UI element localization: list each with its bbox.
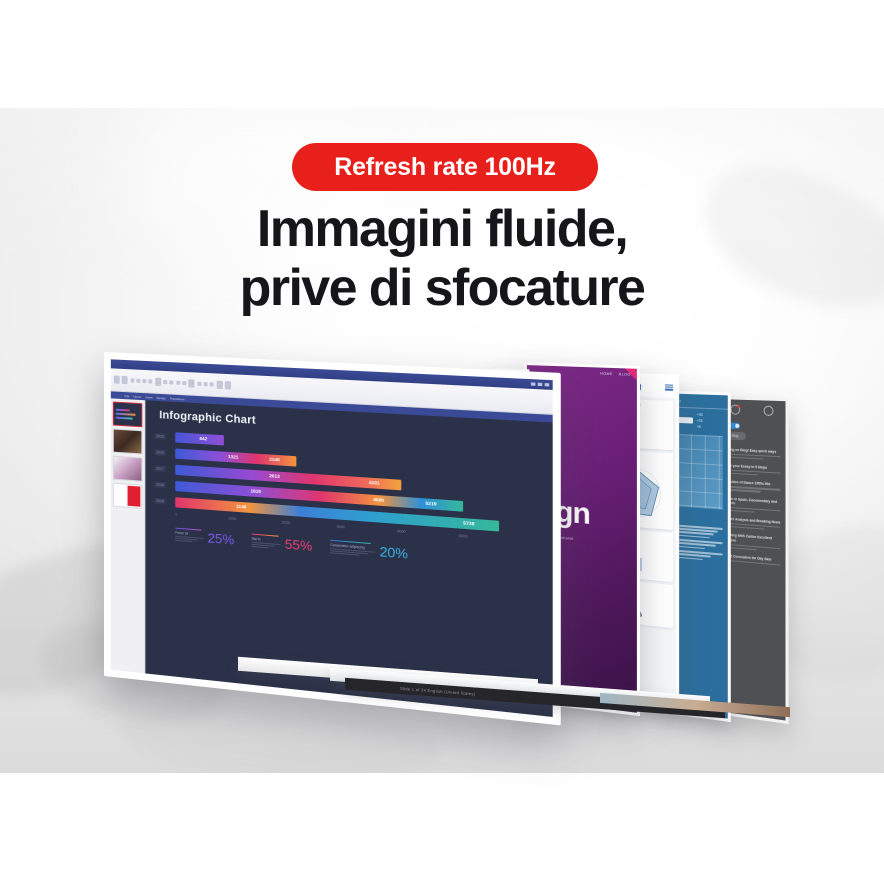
stat-percent: 55%	[285, 536, 312, 554]
bar-value: 2240	[269, 457, 280, 463]
bar-value: 1321	[228, 454, 238, 460]
axis-tick: 0	[175, 512, 177, 516]
bar-value: 1620	[251, 488, 262, 494]
device-stack: Blog Saving on Blog! Easy quick ways Wri…	[0, 0, 884, 884]
minimize-icon[interactable]	[531, 382, 536, 385]
axis-tick: 1000	[228, 516, 236, 521]
close-icon[interactable]	[545, 383, 550, 386]
chat-icon[interactable]	[730, 404, 740, 414]
category-label: 2019	[154, 497, 166, 504]
bar-value: 4201	[369, 480, 380, 486]
category-label: 2018	[154, 481, 166, 488]
headline-line-1: Immagini fluide,	[0, 200, 884, 259]
bar-value: 2613	[269, 473, 280, 479]
corner-accent	[623, 368, 637, 379]
tab-design[interactable]: Design	[157, 395, 166, 400]
bar-value: 5728	[463, 520, 474, 526]
metric-value: +8	[697, 425, 703, 429]
bar-value: 5219	[425, 501, 436, 507]
nav-item-home[interactable]: HOME	[600, 372, 613, 377]
slide-thumb-red[interactable]	[113, 483, 143, 509]
tab-home[interactable]: Home	[133, 394, 141, 398]
bar-value: 4560	[373, 497, 384, 503]
tab-insert[interactable]: Insert	[145, 395, 152, 399]
stat-item: Nisi in 55%	[252, 534, 313, 554]
status-badge: Refresh rate 100Hz	[292, 143, 598, 191]
slide-thumb-photo[interactable]	[113, 429, 143, 455]
metric-value: +33	[697, 413, 703, 417]
tab-transitions[interactable]: Transitions	[170, 396, 185, 401]
stat-item: Fusce sit 25%	[175, 528, 234, 548]
slide-thumbnail-panel[interactable]	[111, 398, 145, 674]
badge-label: Refresh rate 100Hz	[334, 153, 556, 182]
axis-tick: 5000	[459, 534, 468, 539]
category-label: 2016	[154, 449, 166, 456]
stat-percent: 20%	[380, 544, 408, 562]
page-title: Immagini fluide, prive di sfocature	[0, 200, 884, 318]
bell-icon[interactable]	[764, 406, 774, 417]
tab-file[interactable]: File	[125, 394, 130, 398]
axis-tick: 4000	[397, 529, 406, 534]
headline-line-2: prive di sfocature	[0, 259, 884, 318]
axis-tick: 3000	[337, 525, 346, 530]
bar-value: 1146	[236, 504, 246, 510]
axis-tick: 2000	[282, 520, 290, 525]
bar-segment: 642	[175, 432, 224, 445]
slide-thumb-product[interactable]	[113, 456, 143, 482]
category-label: 2017	[154, 465, 166, 472]
maximize-icon[interactable]	[538, 383, 543, 386]
bar-value: 642	[199, 436, 207, 442]
blog-pill-label: Blog	[732, 434, 738, 438]
slide-thumb-chart[interactable]	[113, 401, 143, 427]
stat-percent: 25%	[208, 530, 235, 547]
category-label: 2015	[154, 433, 166, 440]
hamburger-icon[interactable]	[665, 384, 672, 391]
stat-item: Consectetur adipiscing 20%	[330, 540, 408, 562]
metric-value: +23	[697, 419, 703, 423]
promo-image: Blog Saving on Blog! Easy quick ways Wri…	[0, 0, 884, 884]
